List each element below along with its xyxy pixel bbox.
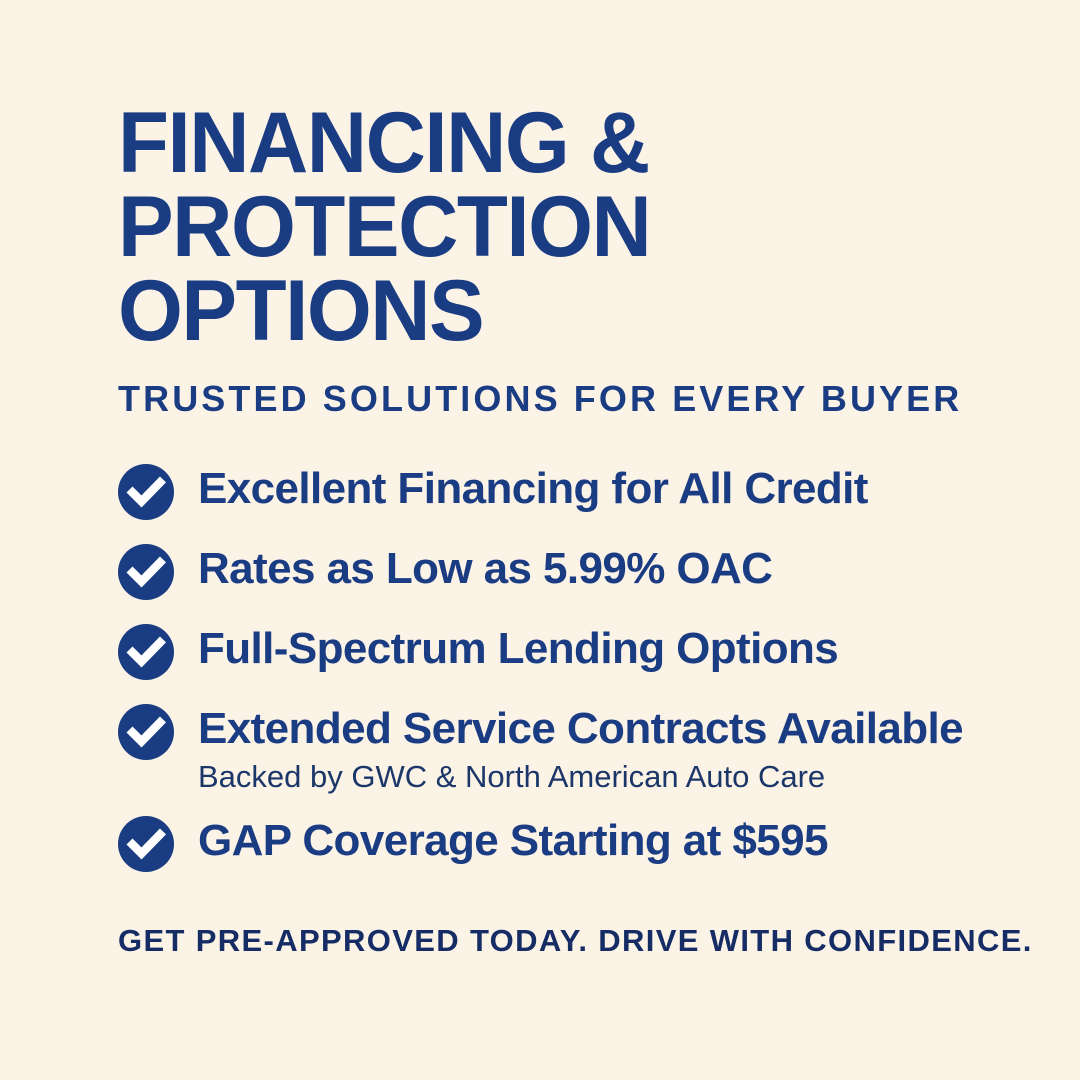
- list-item-body: Extended Service Contracts Available Bac…: [198, 702, 1018, 796]
- list-item: Extended Service Contracts Available Bac…: [118, 702, 1018, 796]
- check-circle-icon: [118, 544, 174, 600]
- list-item-body: Rates as Low as 5.99% OAC: [198, 542, 1018, 596]
- page-title-line-2: PROTECTION: [118, 185, 991, 269]
- list-item-body: Full-Spectrum Lending Options: [198, 622, 1018, 676]
- list-item-label: Rates as Low as 5.99% OAC: [198, 542, 1018, 596]
- check-circle-icon: [118, 624, 174, 680]
- page-title-line-3: OPTIONS: [118, 269, 991, 353]
- list-item: Full-Spectrum Lending Options: [118, 622, 1018, 680]
- page-title-line-1: FINANCING &: [118, 101, 991, 185]
- check-circle-icon: [118, 816, 174, 872]
- list-item-body: GAP Coverage Starting at $595: [198, 814, 1018, 868]
- list-item-label: GAP Coverage Starting at $595: [198, 814, 1018, 868]
- list-item: Excellent Financing for All Credit: [118, 462, 1018, 520]
- list-item-label: Excellent Financing for All Credit: [198, 462, 1018, 516]
- check-circle-icon: [118, 704, 174, 760]
- check-circle-icon: [118, 464, 174, 520]
- list-item-label: Extended Service Contracts Available: [198, 702, 1018, 756]
- promo-graphic-canvas: FINANCING & PROTECTION OPTIONS TRUSTED S…: [0, 0, 1080, 1080]
- list-item-subtext: Backed by GWC & North American Auto Care: [198, 758, 1018, 796]
- benefits-checklist: Excellent Financing for All Credit Rates…: [118, 462, 1018, 894]
- list-item: Rates as Low as 5.99% OAC: [118, 542, 1018, 600]
- list-item-body: Excellent Financing for All Credit: [198, 462, 1018, 516]
- list-item: GAP Coverage Starting at $595: [118, 814, 1018, 872]
- list-item-label: Full-Spectrum Lending Options: [198, 622, 1018, 676]
- page-title: FINANCING & PROTECTION OPTIONS: [118, 101, 1018, 353]
- call-to-action-text: GET PRE-APPROVED TODAY. DRIVE WITH CONFI…: [118, 922, 1033, 960]
- page-subtitle: TRUSTED SOLUTIONS FOR EVERY BUYER: [118, 378, 962, 420]
